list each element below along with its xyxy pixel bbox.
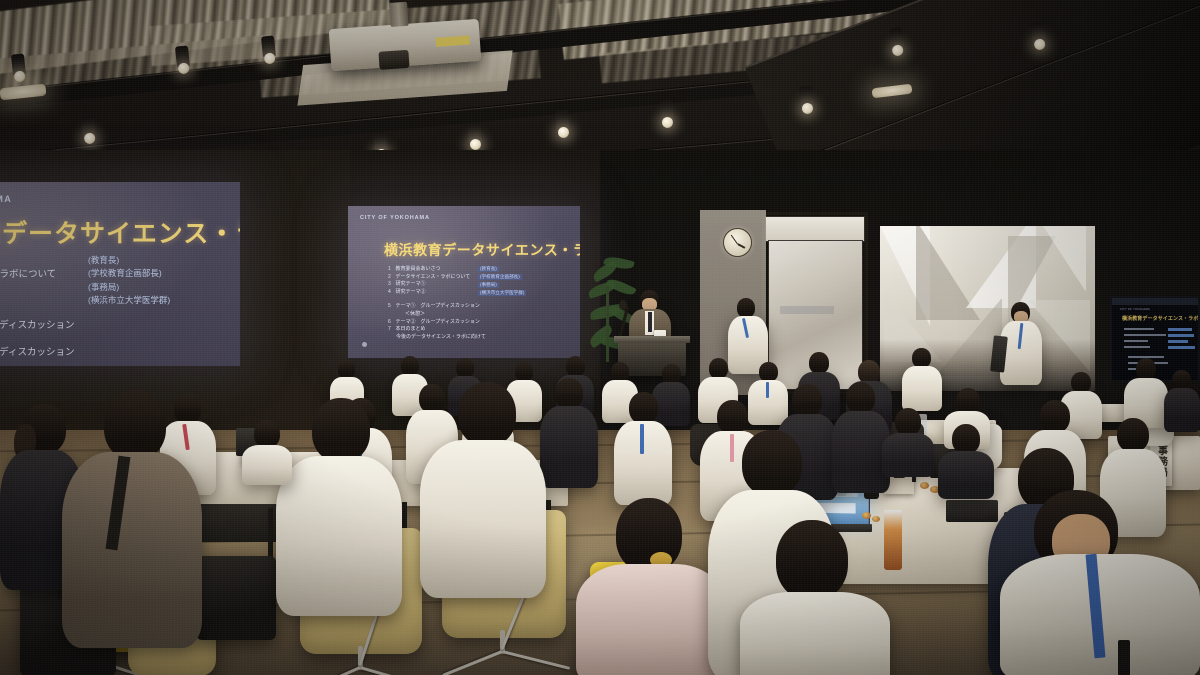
head bbox=[737, 298, 755, 318]
track-spotlight-icon bbox=[889, 27, 904, 50]
track-spotlight-icon bbox=[81, 115, 96, 138]
agenda-org: (教育長) bbox=[88, 254, 119, 266]
agenda-row: 5 テーマ① グループディスカッション bbox=[0, 319, 85, 333]
wall-clock-icon bbox=[723, 228, 752, 257]
projection-screen-left: CITY OF YOKOHAMA 横浜教育データサイエンス・ラボ 1 教育委員会… bbox=[0, 182, 240, 366]
agenda-footer: 今後のデータサイエンス・ラボに向けて bbox=[388, 334, 486, 342]
slide-brand: CITY OF YOKOHAMA bbox=[0, 194, 12, 204]
agenda-number: 7 bbox=[388, 326, 396, 334]
display-line bbox=[1124, 346, 1150, 348]
track-spotlight-icon bbox=[11, 53, 26, 76]
attendee bbox=[242, 420, 292, 480]
agenda-text: 研究テーマ② bbox=[396, 289, 426, 297]
agenda-number: 6 bbox=[388, 319, 396, 327]
podium-top bbox=[614, 336, 690, 343]
head bbox=[566, 356, 585, 377]
agenda-org: (横浜市立大学医学群) bbox=[478, 290, 526, 296]
head bbox=[846, 382, 875, 414]
head bbox=[1117, 418, 1149, 452]
attendee bbox=[938, 424, 994, 494]
attendee bbox=[1164, 370, 1200, 430]
head bbox=[611, 362, 629, 382]
agenda-text: 本日のまとめ bbox=[396, 326, 426, 334]
track-spotlight-icon bbox=[555, 109, 570, 132]
head bbox=[759, 362, 778, 382]
head bbox=[555, 378, 583, 409]
display-chip bbox=[1168, 346, 1195, 349]
agenda-break: ＜休憩＞ bbox=[0, 333, 85, 347]
slide-brand: CITY OF YOKOHAMA bbox=[360, 215, 430, 221]
projection-screen-right: CITY OF YOKOHAMA 横浜教育データサイエンス・ラボ 1 教育委員会… bbox=[348, 206, 580, 358]
track-spotlight-icon bbox=[175, 45, 190, 68]
head bbox=[456, 358, 474, 378]
head bbox=[792, 384, 822, 417]
agenda-org: (学校教育企画部長) bbox=[88, 267, 162, 279]
agenda-org: (横浜市立大学医学群) bbox=[88, 294, 170, 306]
head bbox=[952, 424, 980, 454]
track-spotlight-icon bbox=[467, 121, 482, 144]
agenda-row: 2 データサイエンス・ラボについて bbox=[0, 268, 85, 282]
head bbox=[809, 352, 829, 374]
agenda-row: 1 教育委員会あいさつ bbox=[0, 254, 85, 268]
lanyard bbox=[766, 382, 769, 398]
display-line bbox=[1124, 340, 1148, 342]
agenda-org: (事務局) bbox=[478, 282, 499, 288]
attendee bbox=[902, 348, 942, 410]
display-brand: CITY OF YOKOHAMA bbox=[1120, 308, 1150, 311]
body bbox=[276, 456, 402, 616]
bag-under-table bbox=[196, 556, 276, 640]
attendee bbox=[540, 378, 598, 486]
track-spotlight-icon bbox=[261, 35, 276, 58]
head bbox=[742, 430, 802, 496]
wall-sign bbox=[780, 306, 834, 314]
body bbox=[242, 445, 292, 485]
head bbox=[1071, 372, 1091, 393]
body bbox=[62, 452, 202, 648]
agenda-number: 4 bbox=[388, 289, 396, 297]
head bbox=[776, 520, 848, 600]
projector-label bbox=[436, 35, 471, 46]
slide-title: 横浜教育データサイエンス・ラボ bbox=[384, 240, 580, 260]
head bbox=[515, 362, 533, 382]
display-title: 横浜教育データサイエンス・ラボ bbox=[1122, 315, 1198, 322]
body bbox=[1164, 388, 1200, 432]
screen-indicator-dot bbox=[362, 342, 367, 347]
microphone-icon bbox=[619, 300, 627, 310]
attendee-front bbox=[276, 398, 402, 608]
clock-hour-hand bbox=[737, 243, 745, 248]
head bbox=[895, 408, 921, 436]
display-toolbar bbox=[1112, 298, 1198, 305]
agenda-row: 3 研究テーマ① bbox=[388, 281, 486, 289]
body bbox=[902, 366, 942, 411]
display-line bbox=[1124, 328, 1154, 330]
snack-item bbox=[862, 512, 871, 519]
track-spotlight-icon bbox=[1031, 21, 1046, 44]
display-chip bbox=[1168, 340, 1188, 343]
agenda-number: 2 bbox=[388, 274, 396, 282]
head bbox=[1172, 370, 1191, 390]
badge-holder bbox=[1118, 640, 1130, 675]
display-chip bbox=[1168, 334, 1194, 337]
body bbox=[420, 440, 546, 598]
agenda-gap bbox=[0, 308, 85, 319]
scene-photo: CITY OF YOKOHAMA 横浜教育データサイエンス・ラボ 1 教育委員会… bbox=[0, 0, 1200, 675]
wall-facet bbox=[1030, 226, 1086, 292]
projector-lens-icon bbox=[378, 50, 409, 70]
body bbox=[576, 564, 726, 675]
agenda-row: 4 研究テーマ② bbox=[388, 289, 486, 297]
agenda-text: 教育委員会あいさつ bbox=[396, 266, 441, 274]
attendee-front bbox=[62, 390, 202, 640]
body bbox=[540, 406, 598, 488]
slide-agenda-right: 1 教育委員会あいさつ 2 データサイエンス・ラボについて 3 研究テーマ① 4… bbox=[388, 266, 486, 341]
head bbox=[662, 364, 681, 384]
head bbox=[1136, 358, 1156, 380]
glass-transom bbox=[765, 216, 865, 242]
head bbox=[629, 392, 658, 424]
attendee-front bbox=[420, 382, 546, 590]
agenda-org: (学校教育企画部長) bbox=[478, 274, 522, 280]
clock-minute-hand bbox=[731, 235, 738, 245]
slide-agenda-left: 1 教育委員会あいさつ 2 データサイエンス・ラボについて 3 研究テーマ① 4… bbox=[0, 254, 85, 366]
attendee bbox=[1124, 358, 1168, 426]
agenda-text: データサイエンス・ラボについて bbox=[0, 268, 56, 282]
agenda-row: 4 研究テーマ② bbox=[0, 295, 85, 309]
agenda-row: 5 テーマ① グループディスカッション bbox=[388, 303, 486, 311]
agenda-org: (事務局) bbox=[88, 281, 119, 293]
head bbox=[458, 382, 516, 446]
track-spotlight-icon bbox=[799, 85, 814, 108]
head bbox=[104, 390, 166, 460]
agenda-row: 7 本日のまとめ bbox=[388, 326, 486, 334]
head bbox=[312, 398, 370, 462]
agenda-row: 1 教育委員会あいさつ bbox=[388, 266, 486, 274]
projector-mount bbox=[389, 2, 409, 27]
agenda-text: テーマ① グループディスカッション bbox=[0, 319, 75, 333]
head bbox=[401, 356, 419, 376]
slide-title: 横浜教育データサイエンス・ラボ bbox=[0, 214, 240, 250]
head bbox=[616, 498, 682, 572]
agenda-text: テーマ② グループディスカッション bbox=[0, 346, 75, 360]
agenda-row: 7 本日のまとめ bbox=[0, 360, 85, 367]
plant-stem bbox=[606, 286, 609, 362]
head bbox=[717, 400, 748, 434]
body bbox=[938, 451, 994, 499]
body bbox=[882, 433, 934, 477]
agenda-number: 1 bbox=[388, 266, 396, 274]
lanyard bbox=[640, 424, 644, 454]
presenter-necktie bbox=[648, 312, 652, 332]
snack-item bbox=[920, 482, 929, 489]
display-chip bbox=[1168, 328, 1192, 331]
attendee bbox=[882, 408, 934, 472]
agenda-row: 6 テーマ② グループディスカッション bbox=[0, 346, 85, 360]
agenda-number: 3 bbox=[388, 281, 396, 289]
agenda-org: (教育長) bbox=[478, 266, 499, 272]
head bbox=[254, 420, 280, 448]
agenda-text: テーマ① グループディスカッション bbox=[396, 303, 480, 311]
attendee-standing bbox=[1000, 302, 1042, 388]
attendee-front bbox=[576, 498, 726, 675]
agenda-number: 5 bbox=[388, 303, 396, 311]
agenda-break: ＜休憩＞ bbox=[388, 311, 486, 319]
attendee bbox=[614, 392, 672, 502]
attendee-front bbox=[740, 520, 890, 675]
head bbox=[709, 358, 728, 379]
display-line bbox=[1124, 334, 1166, 336]
track-spotlight-icon bbox=[659, 99, 674, 122]
head bbox=[1040, 400, 1070, 433]
agenda-text: 研究テーマ① bbox=[396, 281, 426, 289]
agenda-row: 3 研究テーマ① bbox=[0, 281, 85, 295]
head bbox=[912, 348, 931, 368]
attendee-front-right bbox=[1000, 490, 1200, 675]
body bbox=[740, 592, 890, 675]
